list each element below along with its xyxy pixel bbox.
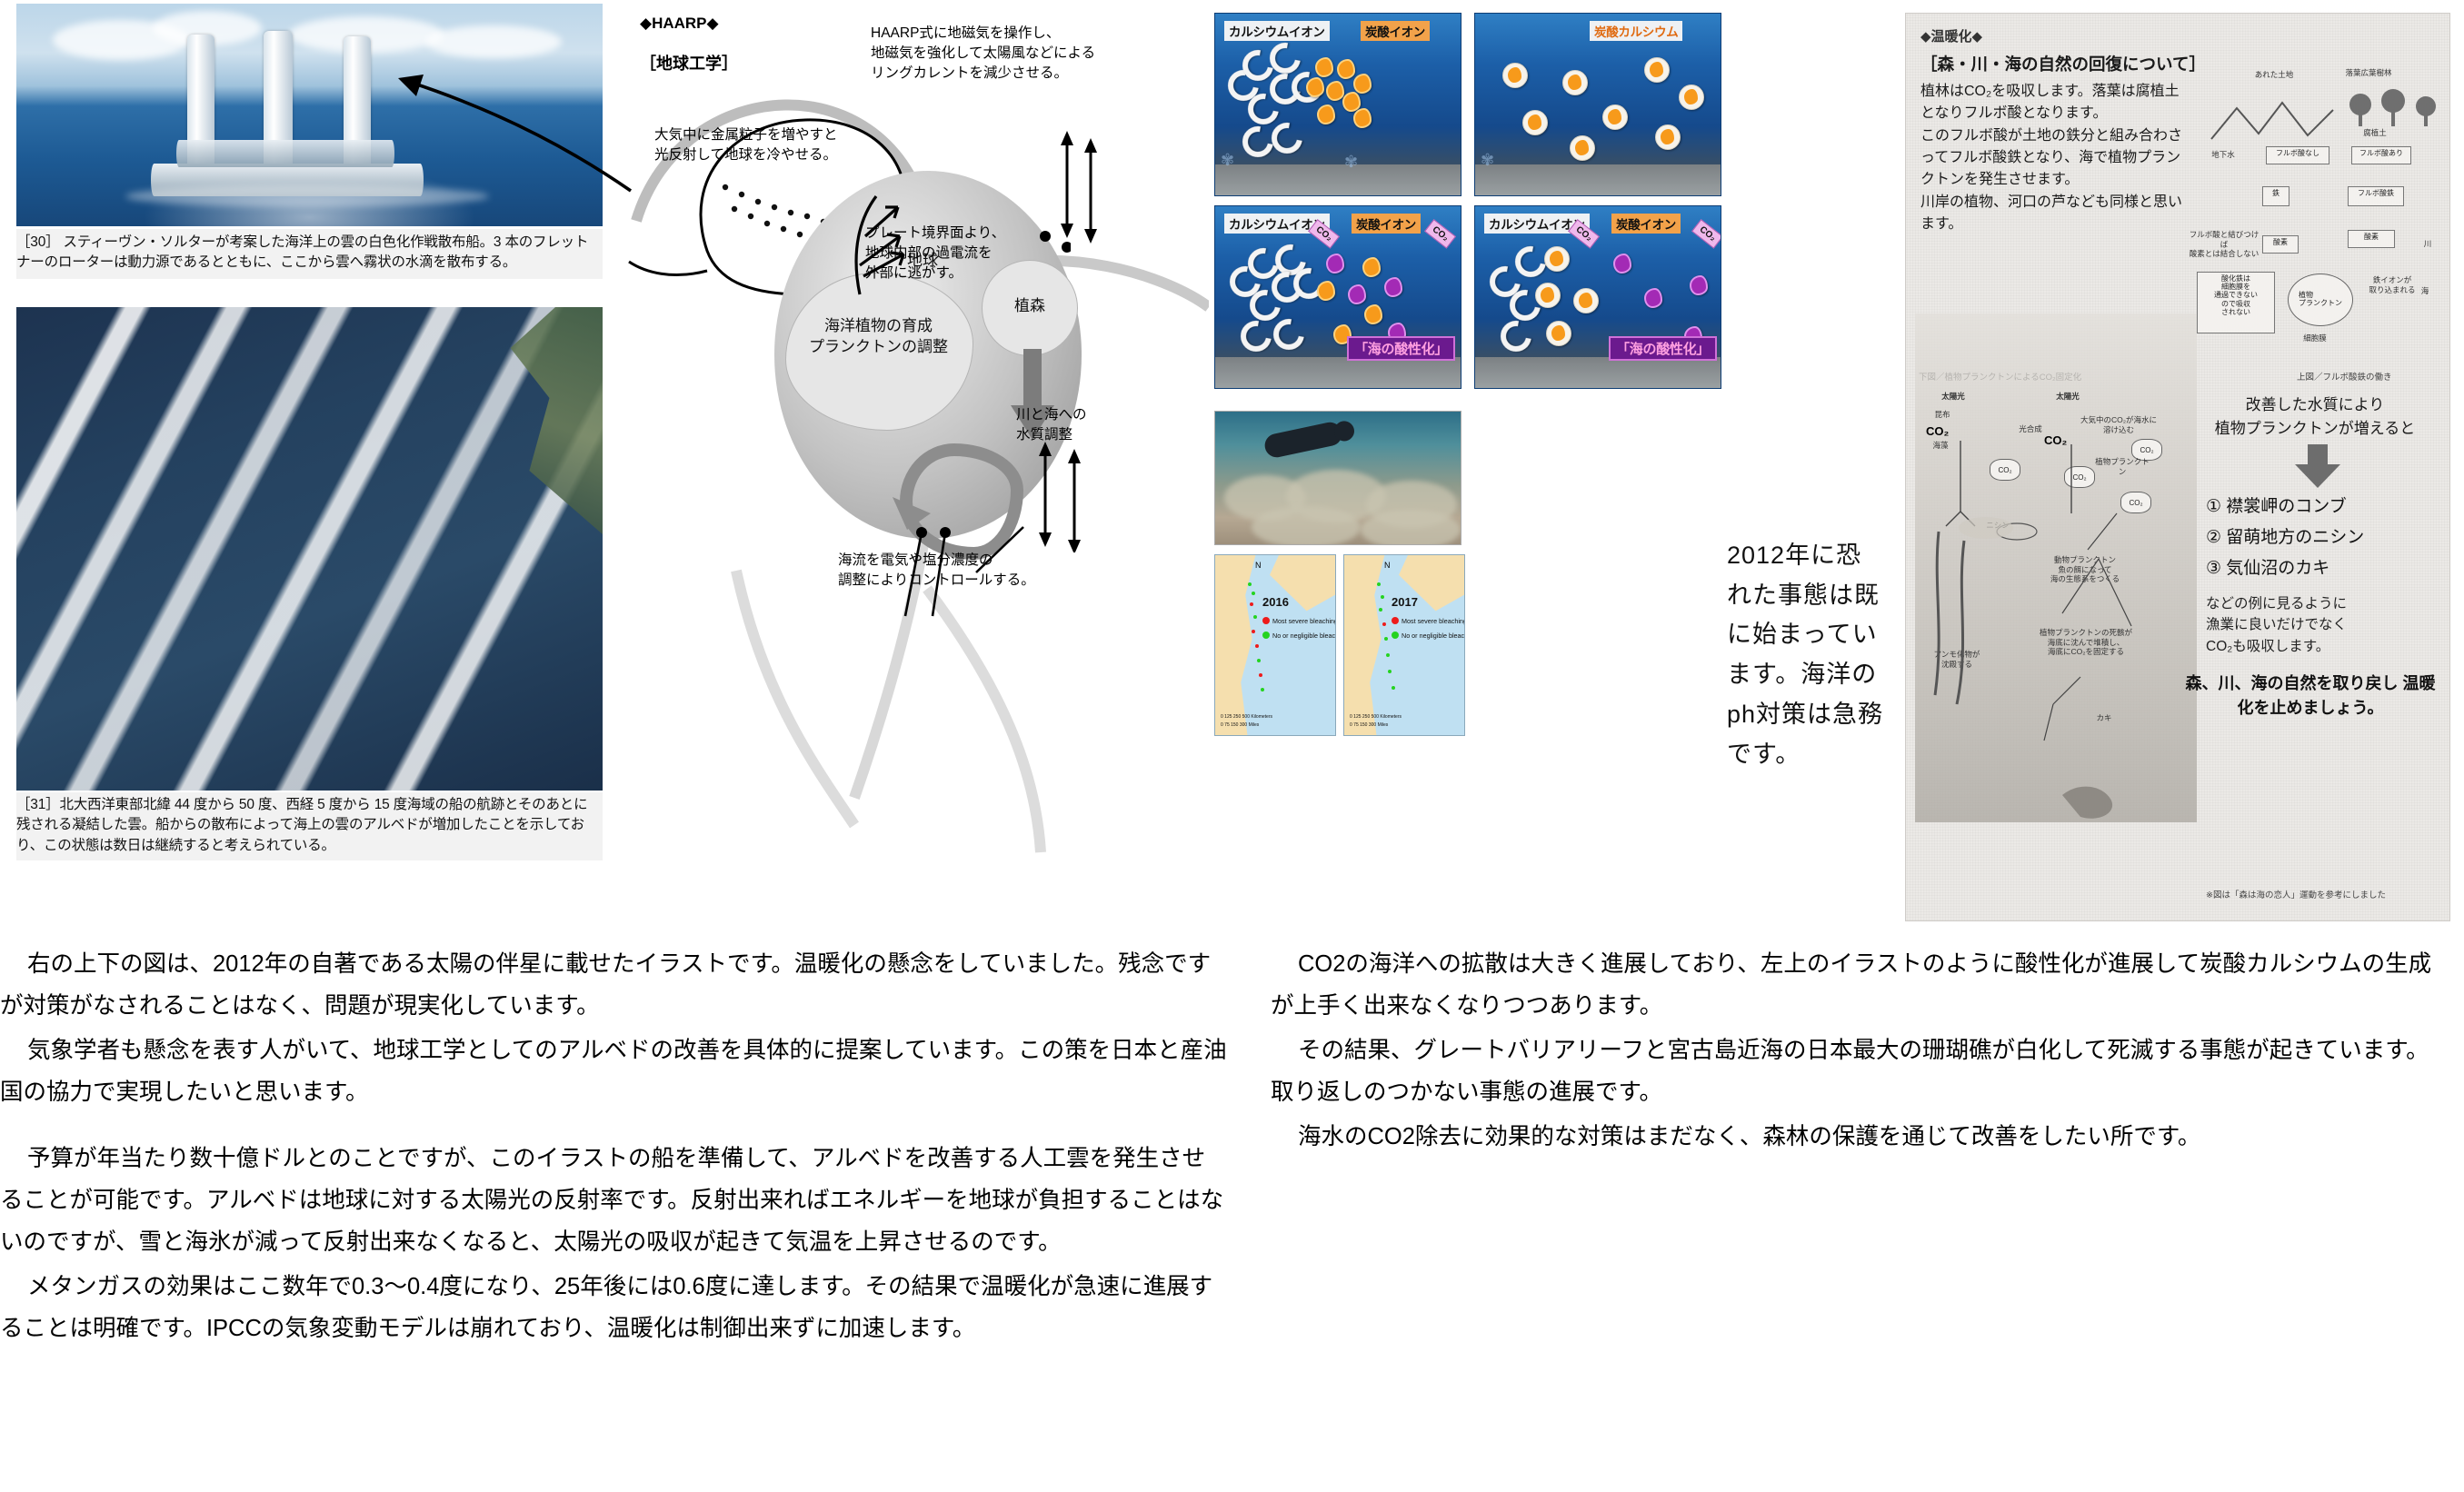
label-fulvic-bond: フルボ酸と結びつけば 酸素とは結合しない bbox=[2188, 230, 2260, 259]
panel-acidification-progress: カルシウムイオン 炭酸イオン CO₂ CO₂ 「海の酸性化」 bbox=[1214, 205, 1461, 389]
examples-note: などの例に見るように 漁業に良いだけでなく CO₂も吸収します。 bbox=[2206, 593, 2433, 657]
tag-carbonate-ion: 炭酸イオン bbox=[1361, 21, 1430, 41]
label-fulvic-iron-1: フルボ酸鉄 bbox=[2348, 186, 2404, 206]
label-oxygen: 酸素 bbox=[2348, 230, 2395, 248]
legend-severe-2016: Most severe bleaching bbox=[1262, 617, 1336, 625]
legend-none-2017: No or negligible bleaching bbox=[1392, 632, 1465, 640]
label-barren-land: あれた土地 bbox=[2233, 70, 2315, 80]
scuba-diver bbox=[1262, 420, 1344, 459]
panel-calcium-carbonate-formed: 炭酸カルシウム ✾ bbox=[1474, 13, 1721, 196]
label-humus: 腐植土 bbox=[2348, 128, 2402, 138]
tag-carbonate-ion-2: 炭酸イオン bbox=[1352, 214, 1421, 234]
label-plankton: 植物 プランクトン bbox=[2288, 274, 2353, 326]
warming-diamond-heading: ◆温暖化◆ bbox=[1920, 26, 1982, 45]
label-groundwater: 地下水 bbox=[2199, 150, 2248, 160]
recovery-title: ［森・川・海の自然の回復について］ bbox=[1920, 52, 2206, 75]
label-sunlight-2: 太陽光 bbox=[2042, 392, 2093, 402]
ship-tracks-satellite-image bbox=[16, 307, 603, 791]
right-paragraph-1: CO2の海洋への拡散は大きく進展しており、左上のイラストのように酸性化が進展して… bbox=[1271, 943, 2452, 1028]
tag-carbonate-ion-3: 炭酸イオン bbox=[1611, 214, 1681, 234]
right-paragraph-3: 海水のCO2除去に効果的な対策はまだなく、森林の保護を通じて改善をしたい所です。 bbox=[1271, 1116, 2452, 1158]
example-item-1: ① 襟裳岬のコンブ bbox=[2206, 493, 2347, 522]
label-sea: 海 bbox=[2411, 286, 2439, 296]
left-paragraph-1: 右の上下の図は、2012年の自著である太陽の伴星に載せたイラストです。温暖化の懸… bbox=[0, 943, 1227, 1028]
lower-double-arrow bbox=[1027, 434, 1109, 552]
ocean-region-label: 海洋植物の育成 プランクトンの調整 bbox=[785, 316, 972, 358]
panel-calcium-carbonate-ions: カルシウムイオン 炭酸イオン ✾ ✾ bbox=[1214, 13, 1461, 196]
down-arrow-glyph bbox=[2291, 444, 2346, 490]
left-paragraph-3: 予算が年当たり数十億ドルとのことですが、このイラストの船を準備して、アルベドを改… bbox=[0, 1138, 1227, 1264]
bleached-coral-diver-photo bbox=[1214, 411, 1461, 545]
bleaching-map-2016: 2016 Most severe bleaching No or negligi… bbox=[1214, 554, 1336, 736]
forest-region-label: 植森 bbox=[991, 296, 1069, 317]
tree-glyphs bbox=[2344, 85, 2444, 130]
example-item-2: ② 留萌地方のニシン bbox=[2206, 524, 2364, 552]
left-body-text: 右の上下の図は、2012年の自著である太陽の伴星に載せたイラストです。温暖化の懸… bbox=[0, 943, 1227, 1352]
label-river: 川 bbox=[2415, 239, 2440, 249]
label-cell-membrane: 細胞膜 bbox=[2288, 333, 2342, 343]
recovery-intro-text: 植林はCO₂を吸収します。落葉は腐植土となりフルボ酸となります。 このフルボ酸が… bbox=[1920, 81, 2184, 235]
source-footnote: ※図は「森は海の恋人」運動を参考にしました bbox=[2206, 888, 2386, 900]
co2-arrow-right-2: CO₂ bbox=[1691, 219, 1721, 249]
left-paragraph-4: メタンガスの効果はここ数年で0.3〜0.4度になり、25年後には0.6度に達しま… bbox=[0, 1266, 1227, 1350]
note-metal-particles: 大気中に金属粒子を増やすと 光反射して地球を冷やせる。 bbox=[654, 125, 882, 165]
panel-acidification-reduced-carbonate: カルシウムイオン 炭酸イオン CO₂ CO₂ 「海の酸性化」 bbox=[1474, 205, 1721, 389]
figure-31-caption: ［31］北大西洋東部北緯 44 度から 50 度、西経 5 度から 15 度海域… bbox=[16, 792, 603, 860]
ocean-acidification-panel-grid: カルシウムイオン 炭酸イオン ✾ ✾ 炭酸カルシウム ✾ カルシウムイオン 炭酸… bbox=[1214, 13, 1723, 403]
label-sunlight-1: 太陽光 bbox=[1928, 392, 1979, 402]
compass-2017: N bbox=[1384, 561, 1391, 570]
co2-arrow-right: CO₂ bbox=[1424, 219, 1456, 249]
tag-calcium-carbonate: 炭酸カルシウム bbox=[1590, 21, 1682, 41]
label-iron: 鉄 bbox=[2262, 186, 2289, 206]
improved-water-note: 改善した水質により 植物プランクトンが増えると bbox=[2197, 393, 2433, 440]
example-item-3: ③ 気仙沼のカキ bbox=[2206, 555, 2329, 583]
tag-calcium-ion: カルシウムイオン bbox=[1224, 21, 1330, 41]
mountain-glyph bbox=[2206, 90, 2342, 144]
label-fallen-leaves: 落葉広葉樹林 bbox=[2337, 68, 2400, 78]
legend-severe-2017: Most severe bleaching bbox=[1392, 617, 1465, 625]
bleaching-map-2017: 2017 Most severe bleaching No or negligi… bbox=[1343, 554, 1465, 736]
co2-arrow-left-2: CO₂ bbox=[1568, 219, 1600, 249]
acid-label-panel-4: 「海の酸性化」 bbox=[1609, 336, 1717, 361]
co2-arrow-left: CO₂ bbox=[1308, 219, 1340, 249]
closing-message: 森、川、海の自然を取り戻し 温暖化を止めましょう。 bbox=[2179, 671, 2442, 721]
forest-river-sea-recovery-figure: ◆温暖化◆ ［森・川・海の自然の回復について］ 植林はCO₂を吸収します。落葉は… bbox=[1905, 13, 2450, 921]
acid-label-panel-3: 「海の酸性化」 bbox=[1347, 336, 1455, 361]
map-year-2016: 2016 bbox=[1262, 595, 1289, 609]
label-no-fulvic: フルボ酸なし bbox=[2266, 146, 2329, 164]
urgency-statement: 2012年に恐れた事態は既に始まっています。海洋のph対策は急務です。 bbox=[1727, 536, 1887, 774]
map-scale-2016: 0 125 250 500 Kilometers 0 75 150 300 Mi… bbox=[1221, 713, 1272, 730]
caption-upper-figure: 上図／フルボ酸鉄の働き bbox=[2297, 370, 2392, 383]
map-scale-2017: 0 125 250 500 Kilometers 0 75 150 300 Mi… bbox=[1350, 713, 1402, 730]
label-oxygen-2: 酸素 bbox=[2262, 235, 2299, 254]
label-acid-detail: 酸化鉄は 細胞膜を 通過できない ので吸収 されない bbox=[2197, 272, 2275, 333]
sea-ecosystem-sketch bbox=[1917, 404, 2190, 831]
haarp-geoengineering-diagram: ◆HAARP◆ ［地球工学］ 大気中に金属粒子を増やすと 光反射して地球を冷やせ… bbox=[627, 7, 1209, 889]
note-haarp-magnetic: HAARP式に地磁気を操作し、 地磁気を強化して太陽風などによる リングカレント… bbox=[871, 24, 1162, 84]
pointer-to-ship-photo bbox=[384, 45, 656, 227]
figure-31-block: ［31］北大西洋東部北緯 44 度から 50 度、西経 5 度から 15 度海域… bbox=[16, 307, 603, 852]
compass-2016: N bbox=[1255, 561, 1262, 570]
upper-arrow-dots bbox=[989, 171, 1071, 253]
right-body-text: CO2の海洋への拡散は大きく進展しており、左上のイラストのように酸性化が進展して… bbox=[1271, 943, 2452, 1159]
right-paragraph-2: その結果、グレートバリアリーフと宮古島近海の日本最大の珊瑚礁が白化して死滅する事… bbox=[1271, 1029, 2452, 1114]
map-year-2017: 2017 bbox=[1392, 595, 1418, 609]
left-paragraph-2: 気象学者も懸念を表す人がいて、地球工学としてのアルベドの改善を具体的に提案してい… bbox=[0, 1029, 1227, 1114]
figure-30-caption: ［30］ スティーヴン・ソルターが考案した海洋上の雲の白色化作戦散布船。3 本の… bbox=[16, 229, 603, 279]
current-leader-line bbox=[900, 525, 1027, 625]
legend-none-2016: No or negligible bleaching bbox=[1262, 632, 1336, 640]
label-with-fulvic: フルボ酸あり bbox=[2351, 146, 2411, 164]
